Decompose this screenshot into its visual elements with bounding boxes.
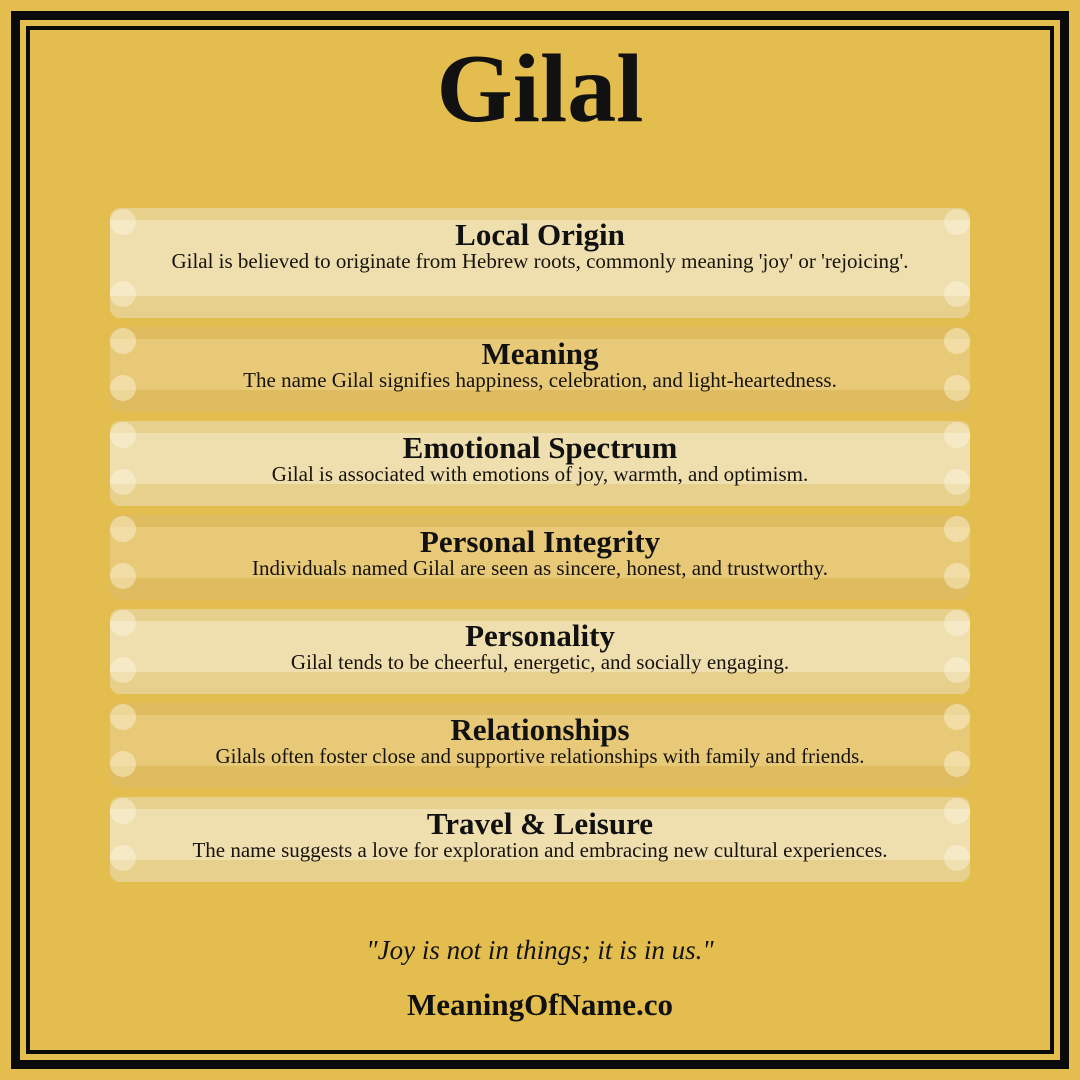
card-inner: Travel & LeisureThe name suggests a love… xyxy=(110,797,970,862)
card-body-text: The name Gilal signifies happiness, cele… xyxy=(136,369,944,392)
attribute-card: Travel & LeisureThe name suggests a love… xyxy=(110,797,970,882)
card-heading: Personality xyxy=(136,613,944,651)
card-inner: Local OriginGilal is believed to origina… xyxy=(110,208,970,273)
card-heading: Local Origin xyxy=(136,212,944,250)
attribute-card: Personal IntegrityIndividuals named Gila… xyxy=(110,515,970,600)
attribute-card: Emotional SpectrumGilal is associated wi… xyxy=(110,421,970,506)
card-heading: Personal Integrity xyxy=(136,519,944,557)
card-heading: Emotional Spectrum xyxy=(136,425,944,463)
card-body-text: Gilal tends to be cheerful, energetic, a… xyxy=(136,651,944,674)
attribute-card: Local OriginGilal is believed to origina… xyxy=(110,208,970,318)
attribute-card: PersonalityGilal tends to be cheerful, e… xyxy=(110,609,970,694)
name-meaning-poster: Gilal Local OriginGilal is believed to o… xyxy=(0,0,1080,1080)
card-heading: Meaning xyxy=(136,331,944,369)
card-inner: Personal IntegrityIndividuals named Gila… xyxy=(110,515,970,580)
page-title: Gilal xyxy=(30,38,1050,141)
footer-brand: MeaningOfName.co xyxy=(30,988,1050,1022)
card-rivet-bl-icon xyxy=(110,281,136,307)
card-body-text: The name suggests a love for exploration… xyxy=(136,839,944,862)
card-heading: Travel & Leisure xyxy=(136,801,944,839)
attribute-card: MeaningThe name Gilal signifies happines… xyxy=(110,327,970,412)
attribute-card-list: Local OriginGilal is believed to origina… xyxy=(110,208,970,891)
card-inner: MeaningThe name Gilal signifies happines… xyxy=(110,327,970,392)
card-body-text: Individuals named Gilal are seen as sinc… xyxy=(136,557,944,580)
card-rivet-br-icon xyxy=(944,281,970,307)
card-inner: Emotional SpectrumGilal is associated wi… xyxy=(110,421,970,486)
poster-footer: "Joy is not in things; it is in us." Mea… xyxy=(30,935,1050,1022)
poster-content: Gilal Local OriginGilal is believed to o… xyxy=(30,30,1050,1050)
card-body-text: Gilals often foster close and supportive… xyxy=(136,745,944,768)
footer-quote: "Joy is not in things; it is in us." xyxy=(30,935,1050,966)
card-body-text: Gilal is believed to originate from Hebr… xyxy=(136,250,944,273)
card-heading: Relationships xyxy=(136,707,944,745)
card-inner: PersonalityGilal tends to be cheerful, e… xyxy=(110,609,970,674)
card-body-text: Gilal is associated with emotions of joy… xyxy=(136,463,944,486)
attribute-card: RelationshipsGilals often foster close a… xyxy=(110,703,970,788)
card-inner: RelationshipsGilals often foster close a… xyxy=(110,703,970,768)
